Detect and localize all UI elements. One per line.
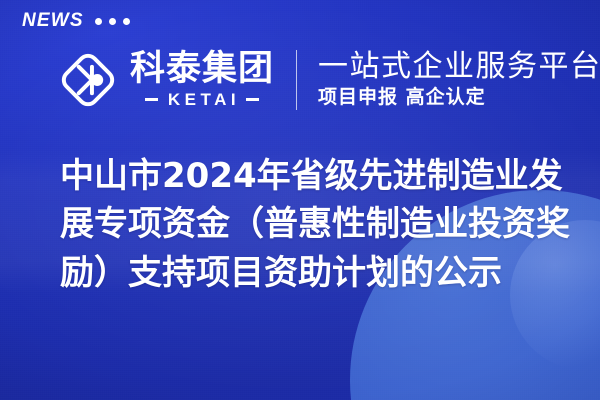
tagline-main: 一站式企业服务平台 [318,50,600,84]
brand-name-en-row: KETAI [145,91,259,108]
brand-header: 科泰集团 KETAI 一站式企业服务平台 项目申报 高企认定 [55,42,600,118]
news-banner: NEWS 科泰集团 [0,0,600,400]
brand-wordmark: 科泰集团 KETAI [130,52,274,108]
three-dots-icon [95,18,130,25]
tagline-block: 一站式企业服务平台 项目申报 高企认定 [318,50,600,110]
ketai-diamond-monogram-icon [55,47,121,113]
dash-left-icon [145,98,158,101]
brand-name-en: KETAI [164,91,240,108]
vertical-divider [296,50,297,110]
news-label: NEWS [22,11,84,30]
tagline-sub: 项目申报 高企认定 [318,86,600,110]
brand-name-cn: 科泰集团 [130,52,274,88]
news-badge: NEWS [22,11,130,30]
dash-right-icon [246,98,259,101]
page-title: 中山市2024年省级先进制造业发展专项资金（普惠性制造业投资奖励）支持项目资助计… [60,152,572,297]
brand-logo[interactable]: 科泰集团 KETAI [55,47,274,113]
